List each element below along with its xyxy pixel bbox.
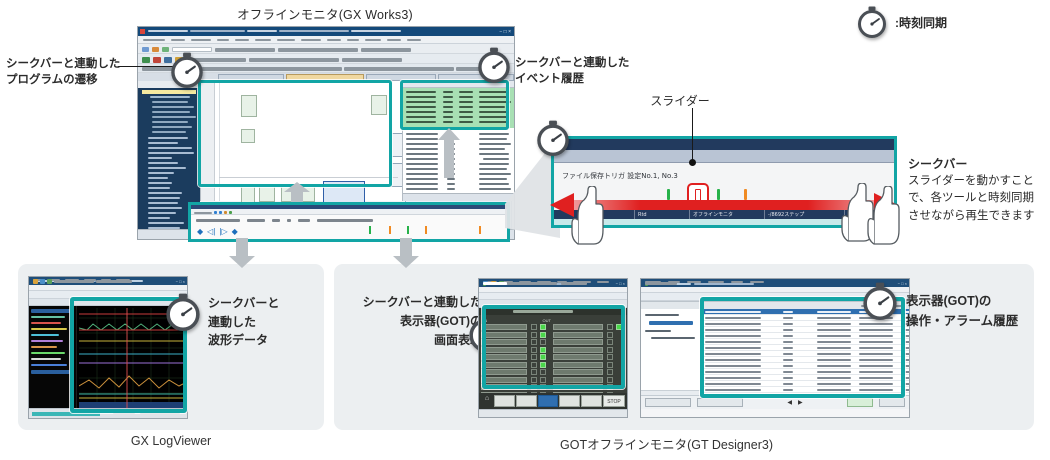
detail-titlebar — [554, 139, 894, 150]
stopwatch-icon — [170, 52, 204, 88]
step-back-icon[interactable]: ◁| — [207, 227, 215, 236]
leader-dot-slider — [689, 159, 696, 166]
callout-program-transition: シークバーと連動した プログラムの遷移 — [6, 56, 120, 89]
window-controls[interactable]: − □ × — [176, 279, 185, 284]
caption-gx-logviewer: GX LogViewer — [18, 434, 324, 448]
home-icon[interactable]: ⌂ — [481, 395, 493, 407]
got-statusbar — [479, 409, 627, 417]
window-controls[interactable]: − □ × — [898, 281, 907, 286]
callout-waveform-line2: 連動した — [208, 313, 279, 332]
jump-end-icon[interactable]: ◆ — [232, 227, 238, 236]
arrow-down-to-got — [392, 238, 420, 273]
caption-got-offline-monitor: GOTオフラインモニタ(GT Designer3) — [560, 434, 880, 453]
hand-cursor-icon — [566, 186, 610, 246]
got-stop-button[interactable]: STOP — [603, 395, 625, 407]
callout-waveform-data: シークバーと 連動した 波形データ — [208, 294, 279, 350]
toolbar[interactable] — [479, 293, 627, 300]
seekbar-tick — [389, 226, 391, 234]
seekbar-description-line2: で、各ツールと時刻同期 — [908, 190, 1048, 207]
stopwatch-icon — [862, 282, 898, 320]
slider-label: スライダー — [650, 93, 710, 110]
seekbar-tick — [479, 226, 481, 234]
hand-cursor-icon — [862, 186, 906, 246]
got-footer-button[interactable] — [516, 395, 537, 407]
callout-waveform-line1: シークバーと — [208, 294, 279, 313]
callout-got-screen: シークバーと連動した 表示器(GOT)の 画面表示 — [342, 293, 482, 351]
seekbar-description-title: シークバー — [908, 156, 1048, 173]
gx-works3-seekbar[interactable]: ◆ ◁| |▷ ◆ — [188, 202, 510, 242]
leader-line-slider — [692, 108, 693, 162]
seekbar-tick — [425, 226, 427, 234]
seekbar-description: シークバー スライダーを動かすこと で、各ツールと時刻同期 させながら再生できま… — [908, 156, 1048, 225]
callout-waveform-line3: 波形データ — [208, 331, 279, 350]
prev-page-icon[interactable]: ◀ — [787, 399, 792, 406]
seekbar-description-line3: させながら再生できます — [908, 208, 1048, 225]
seekbar-description-line1: スライダーを動かすこと — [908, 173, 1048, 190]
seekbar-body[interactable]: ◆ ◁| |▷ ◆ — [191, 215, 507, 239]
callout-program-transition-line2: プログラムの遷移 — [6, 72, 120, 88]
callout-got-screen-line3: 画面表示 — [342, 331, 482, 350]
step-forward-icon[interactable]: |▷ — [219, 227, 227, 236]
stopwatch-icon — [165, 293, 201, 331]
infographic-root: :時刻同期 オフラインモニタ(GX Works3) − □ × — [0, 0, 1050, 460]
seekbar-tick — [369, 226, 371, 234]
highlight-got-screen — [482, 305, 625, 389]
callout-event-history-line2: イベント履歴 — [515, 71, 629, 87]
detail-trigger-label: ファイル保存トリガ 設定No.1, No.3 — [562, 171, 678, 181]
stopwatch-icon — [857, 6, 887, 38]
arrow-up-to-event-history — [437, 128, 461, 183]
legend-label: :時刻同期 — [895, 15, 947, 32]
app-icon — [140, 29, 145, 34]
callout-event-history: シークバーと連動した イベント履歴 — [515, 55, 629, 88]
alarm-action-button[interactable] — [847, 398, 873, 407]
callout-got-screen-line2: 表示器(GOT)の — [342, 312, 482, 331]
callout-program-transition-line1: シークバーと連動した — [6, 56, 120, 72]
menu-bar[interactable] — [138, 36, 514, 44]
detail-display-button[interactable] — [645, 398, 691, 407]
got-footer-button[interactable] — [494, 395, 515, 407]
project-tree[interactable] — [641, 301, 703, 395]
page-title: オフラインモニタ(GX Works3) — [200, 4, 450, 23]
window-controls[interactable]: − □ × — [499, 29, 511, 35]
callout-got-screen-line1: シークバーと連動した — [342, 293, 482, 312]
window-controls[interactable]: − □ × — [616, 281, 625, 286]
got-footer-button[interactable] — [559, 395, 580, 407]
callout-alarm-history: 表示器(GOT)の 操作・アラーム履歴 — [906, 291, 1018, 331]
got-footer-button-active[interactable] — [538, 395, 559, 407]
seekbar-transport-controls[interactable]: ◆ ◁| |▷ ◆ — [197, 227, 238, 236]
stopwatch-icon — [477, 47, 511, 83]
seekbar-tick — [407, 226, 409, 234]
highlight-ladder-editor — [198, 80, 392, 187]
jump-start-icon[interactable]: ◆ — [197, 227, 203, 236]
callout-alarm-history-line2: 操作・アラーム履歴 — [906, 311, 1018, 331]
detail-button[interactable] — [697, 398, 743, 407]
callout-event-history-line1: シークバーと連動した — [515, 55, 629, 71]
highlight-event-history — [400, 80, 509, 130]
callout-alarm-history-line1: 表示器(GOT)の — [906, 291, 1018, 311]
arrow-down-to-logviewer — [228, 238, 256, 273]
got-footer-buttons[interactable]: ⌂ STOP — [479, 393, 627, 409]
alarm-action-button[interactable] — [879, 398, 905, 407]
next-page-icon[interactable]: ▶ — [798, 399, 803, 406]
got-footer-button[interactable] — [581, 395, 602, 407]
stopwatch-icon — [536, 120, 570, 156]
detail-toolbar[interactable] — [554, 150, 894, 163]
window-titlebar: − □ × — [138, 27, 514, 36]
